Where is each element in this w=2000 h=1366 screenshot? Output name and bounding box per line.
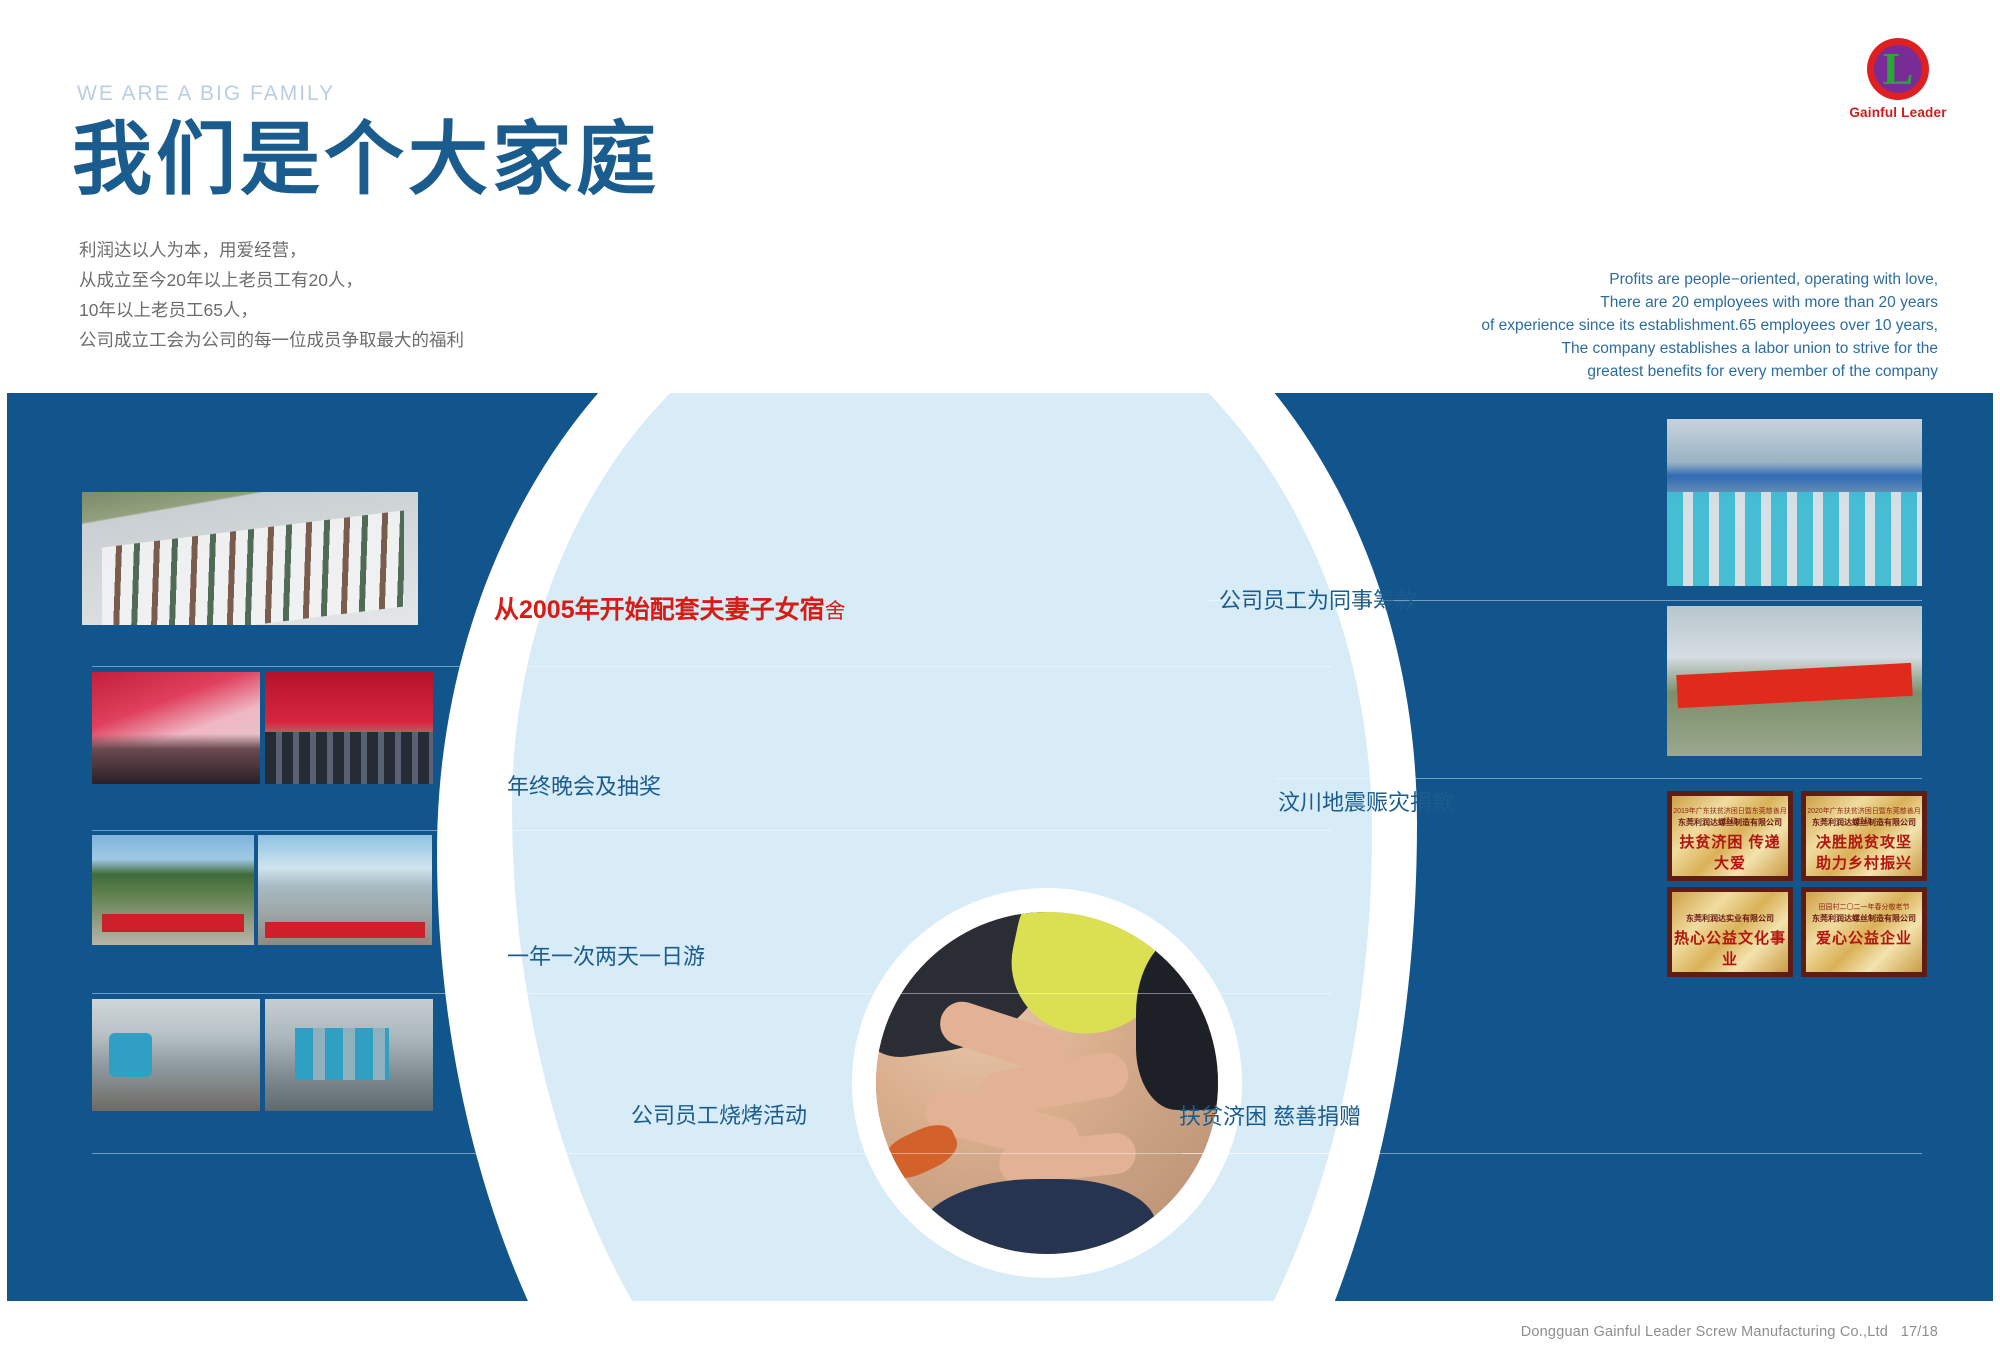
page-title: 我们是个大家庭 [72, 118, 660, 202]
label-dormitory: 从2005年开始配套夫妻子女宿舍 [494, 590, 846, 626]
label-year-end-gala: 年终晚会及抽奖 [507, 769, 661, 801]
logo-icon: L [1867, 38, 1929, 100]
plaque-4-org: 东莞利润达螺丝制造有限公司 [1806, 913, 1922, 924]
right-divider-3 [1182, 1153, 1922, 1154]
label-company-trip: 一年一次两天一日游 [507, 939, 705, 971]
intro-line-2: 从成立至今20年以上老员工有20人， [79, 265, 464, 295]
footer-company: Dongguan Gainful Leader Screw Manufactur… [1521, 1324, 1888, 1340]
intro-paragraph: 利润达以人为本，用爱经营， 从成立至今20年以上老员工有20人， 10年以上老员… [79, 235, 464, 355]
bbq-photo-1 [92, 999, 260, 1111]
intro-line-3: 10年以上老员工65人， [79, 295, 464, 325]
label-dormitory-main: 从2005年开始配套夫妻子女宿 [494, 596, 825, 624]
plaque-3: 东莞利润达实业有限公司 热心公益文化事业 [1667, 887, 1793, 977]
intro-line-4: 公司成立工会为公司的每一位成员争取最大的福利 [79, 325, 464, 355]
label-employee-fundraising: 公司员工为同事筹款 [1219, 583, 1417, 615]
logo-letter: L [1867, 38, 1929, 100]
bbq-photo-2 [265, 999, 433, 1111]
label-bbq-activity: 公司员工烧烤活动 [631, 1098, 807, 1130]
year-end-gala-banquet-photo [92, 672, 260, 784]
footer: Dongguan Gainful Leader Screw Manufactur… [1521, 1324, 1938, 1340]
slide-page: WE ARE A BIG FAMILY 我们是个大家庭 利润达以人为本，用爱经营… [0, 0, 2000, 1366]
left-divider-1 [92, 666, 1332, 667]
label-dormitory-tail: 舍 [825, 600, 846, 623]
english-line-2: There are 20 employees with more than 20… [1481, 291, 1938, 314]
employee-donation-photo [1667, 419, 1922, 586]
left-divider-4 [92, 1153, 1332, 1154]
left-divider-2 [92, 830, 1332, 831]
intro-line-1: 利润达以人为本，用爱经营， [79, 235, 464, 265]
english-line-1: Profits are people−oriented, operating w… [1481, 268, 1938, 291]
plaque-2-title: 决胜脱贫攻坚 助力乡村振兴 [1806, 831, 1922, 873]
company-logo: L Gainful Leader [1845, 38, 1951, 130]
content-panel: 2019年广东扶贫济困日暨东莞慈善月活动 东莞利润达螺丝制造有限公司 扶贫济困 … [7, 393, 1993, 1301]
english-line-4: The company establishes a labor union to… [1481, 337, 1938, 360]
company-trip-group-photo [92, 835, 254, 945]
english-line-5: greatest benefits for every member of th… [1481, 360, 1938, 383]
left-divider-3 [92, 993, 1332, 994]
right-divider-2 [1277, 778, 1922, 779]
plaque-1-org: 东莞利润达螺丝制造有限公司 [1672, 817, 1788, 828]
company-trip-park-photo [258, 835, 432, 945]
dormitory-building-photo [82, 492, 418, 625]
plaque-4-year: 田园村二〇二一年春分敬老节 [1806, 902, 1922, 912]
year-end-gala-stage-photo [265, 672, 433, 784]
page-eyebrow: WE ARE A BIG FAMILY [77, 82, 335, 106]
hands-together-hero-photo [876, 912, 1218, 1254]
earthquake-donation-banner-photo [1667, 606, 1922, 756]
plaque-4: 田园村二〇二一年春分敬老节 东莞利润达螺丝制造有限公司 爱心公益企业 [1801, 887, 1927, 977]
plaque-2: 2020年广东扶贫济困日暨东莞慈善月活动 东莞利润达螺丝制造有限公司 决胜脱贫攻… [1801, 791, 1927, 881]
english-paragraph: Profits are people−oriented, operating w… [1481, 268, 1938, 383]
label-charity-donation: 扶贫济困 慈善捐赠 [1179, 1099, 1361, 1131]
label-earthquake-donation: 汶川地震赈灾捐款 [1278, 785, 1454, 817]
footer-page-number: 17/18 [1901, 1324, 1938, 1340]
plaque-4-title: 爱心公益企业 [1806, 927, 1922, 948]
logo-wordmark: Gainful Leader [1845, 105, 1951, 120]
plaque-1-title: 扶贫济困 传递大爱 [1672, 831, 1788, 873]
plaque-1: 2019年广东扶贫济困日暨东莞慈善月活动 东莞利润达螺丝制造有限公司 扶贫济困 … [1667, 791, 1793, 881]
plaque-3-org: 东莞利润达实业有限公司 [1672, 913, 1788, 924]
plaque-3-title: 热心公益文化事业 [1672, 927, 1788, 969]
english-line-3: of experience since its establishment.65… [1481, 314, 1938, 337]
plaque-2-org: 东莞利润达螺丝制造有限公司 [1806, 817, 1922, 828]
